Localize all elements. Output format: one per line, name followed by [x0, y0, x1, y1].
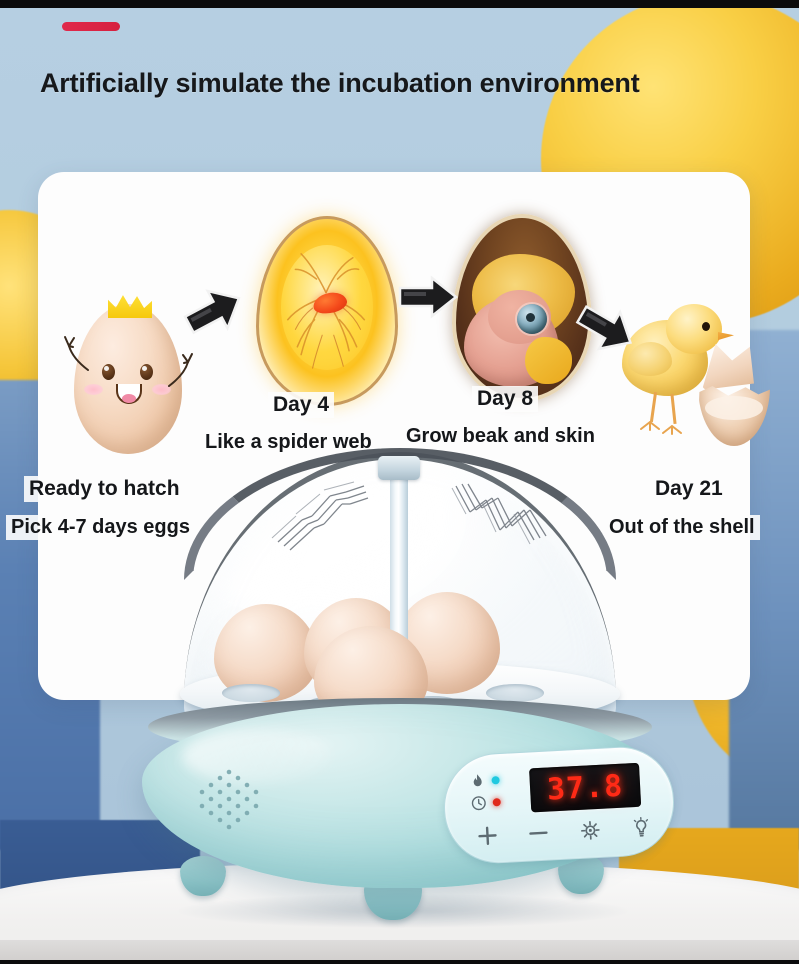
chick-leg-right	[670, 394, 676, 424]
stage-day21-icon	[618, 300, 776, 472]
heating-led	[491, 776, 499, 784]
stage-ready-icon	[56, 286, 196, 471]
increase-button[interactable]	[476, 824, 499, 847]
setting-button[interactable]	[578, 819, 601, 842]
dome-handle[interactable]	[378, 456, 420, 480]
chick-foot-left	[640, 418, 660, 427]
mascot-tongue	[122, 394, 136, 403]
heating-indicator	[469, 772, 500, 790]
page-title: Artificially simulate the incubation env…	[40, 68, 780, 99]
stage-day8-icon	[452, 214, 592, 402]
mascot-arm-left	[62, 334, 92, 372]
light-button[interactable]	[630, 816, 653, 839]
product-infographic: Artificially simulate the incubation env…	[0, 0, 799, 964]
chick-foot-right	[662, 422, 682, 431]
top-letterbox-bar	[0, 0, 799, 8]
flame-icon	[469, 773, 486, 790]
incubator-foot	[180, 856, 226, 896]
vent-slots-left	[268, 480, 388, 558]
stage-day4-icon	[256, 216, 398, 406]
chick-head	[666, 304, 722, 354]
bottom-letterbox-bar	[0, 960, 799, 964]
chick-eye	[702, 322, 710, 331]
mascot-eye-right	[140, 364, 153, 380]
arrow-down-right-icon	[576, 300, 638, 358]
eggshell-bottom-piece	[698, 386, 770, 446]
egg-incubator-product: 37.8	[118, 452, 682, 922]
mascot-cheek-left	[84, 384, 103, 395]
egg-slot	[222, 684, 280, 702]
embryo-eye	[517, 304, 547, 334]
temperature-display: 37.8	[529, 763, 641, 813]
accent-bar	[62, 22, 120, 31]
speaker-grille	[190, 764, 268, 836]
mascot-arm-right	[166, 352, 196, 390]
stage-day4-day-label: Day 4	[268, 392, 334, 418]
timer-led	[493, 798, 501, 806]
candled-egg-shell	[256, 216, 398, 406]
mascot-eye-left	[102, 364, 115, 380]
button-row	[476, 816, 653, 847]
vent-slots-right	[448, 478, 568, 558]
clock-icon	[470, 795, 487, 812]
decrease-button[interactable]	[527, 822, 550, 845]
control-panel[interactable]: 37.8	[441, 744, 676, 866]
stage-day8-day-label: Day 8	[472, 386, 538, 412]
eggshell-top-piece	[702, 344, 754, 390]
arrow-up-right-icon	[184, 282, 246, 340]
arrow-right-icon	[398, 276, 460, 318]
stage-day8-desc-label: Grow beak and skin	[401, 424, 600, 449]
temperature-value: 37.8	[546, 768, 624, 807]
embryo-egg-shell	[452, 214, 592, 402]
timer-indicator	[470, 794, 501, 812]
embryo-beak	[525, 337, 573, 384]
